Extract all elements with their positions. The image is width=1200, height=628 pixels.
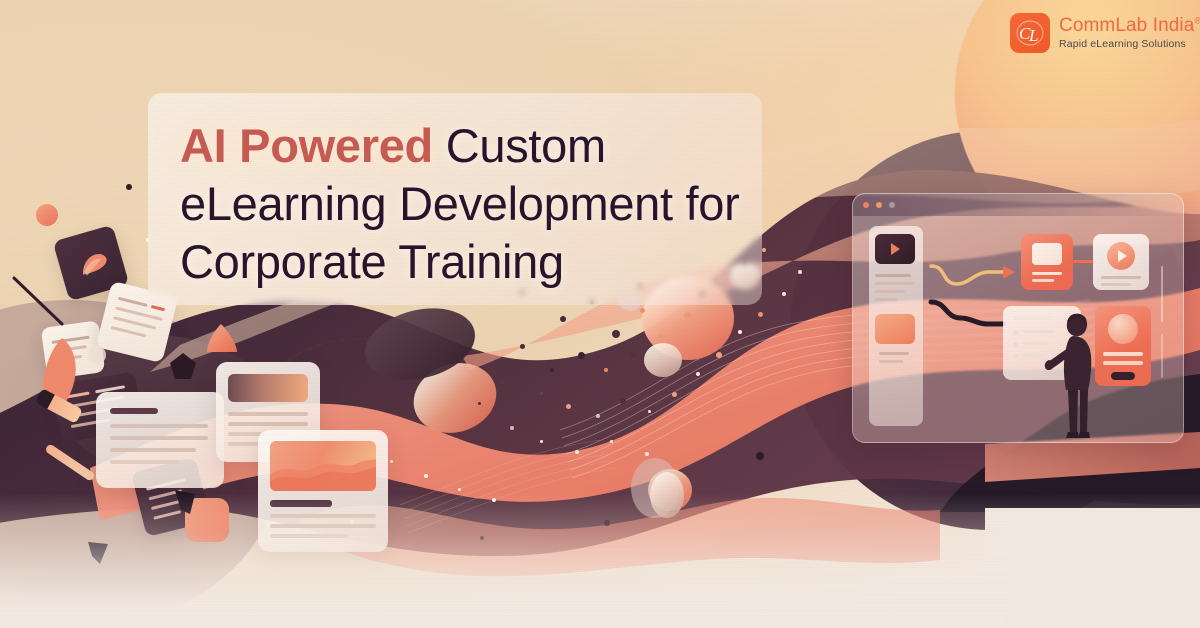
presenter-silhouette bbox=[1044, 310, 1108, 445]
logo-monogram-icon: C L bbox=[1010, 13, 1050, 53]
headline-accent: AI Powered bbox=[180, 119, 433, 172]
browser-sidebar-panel bbox=[869, 226, 923, 426]
media-card-play-circle bbox=[1107, 242, 1135, 270]
chart-thumbnail bbox=[270, 441, 376, 491]
brand-name-text: CommLab India bbox=[1059, 15, 1194, 36]
banner-root: AI Powered Custom eLearning Development … bbox=[0, 0, 1200, 628]
play-icon bbox=[891, 243, 900, 255]
traffic-light-minimize[interactable] bbox=[876, 202, 882, 208]
content-card-text bbox=[96, 392, 224, 488]
browser-titlebar bbox=[853, 194, 1183, 216]
brand-logo[interactable]: C L CommLab India® Rapid eLearning Solut… bbox=[1010, 13, 1200, 53]
connector-line-horizontal bbox=[1073, 260, 1093, 263]
sidebar-coral-tile[interactable] bbox=[875, 314, 915, 344]
floating-shape-chip-4 bbox=[86, 344, 108, 366]
media-card[interactable] bbox=[1093, 234, 1149, 290]
browser-edge-line-1 bbox=[1161, 266, 1163, 322]
profile-avatar bbox=[1108, 314, 1138, 344]
page-title: AI Powered Custom eLearning Development … bbox=[180, 117, 780, 291]
browser-edge-line-2 bbox=[1161, 334, 1163, 378]
module-card[interactable] bbox=[1021, 234, 1073, 290]
logo-text-block: CommLab India® Rapid eLearning Solutions bbox=[1059, 16, 1200, 50]
play-icon bbox=[1118, 250, 1127, 262]
brand-name: CommLab India® bbox=[1059, 16, 1200, 35]
headline-line1-rest: Custom bbox=[433, 119, 606, 172]
browser-mockup bbox=[852, 193, 1184, 443]
floating-shape-cone bbox=[205, 322, 239, 354]
bottom-solid-strip bbox=[1006, 510, 1200, 628]
headline-line3: Corporate Training bbox=[180, 233, 780, 291]
sidebar-video-thumb[interactable] bbox=[875, 234, 915, 264]
traffic-light-maximize[interactable] bbox=[889, 202, 895, 208]
brand-tagline: Rapid eLearning Solutions bbox=[1059, 39, 1200, 50]
registered-trademark-icon: ® bbox=[1194, 16, 1200, 26]
module-card-thumb bbox=[1032, 243, 1062, 265]
pointer-stick-icon bbox=[12, 276, 72, 332]
floating-shape-chip-1 bbox=[168, 352, 198, 382]
traffic-light-close[interactable] bbox=[863, 202, 869, 208]
headline-line2: eLearning Development for bbox=[180, 175, 780, 233]
svg-text:L: L bbox=[1028, 26, 1038, 45]
